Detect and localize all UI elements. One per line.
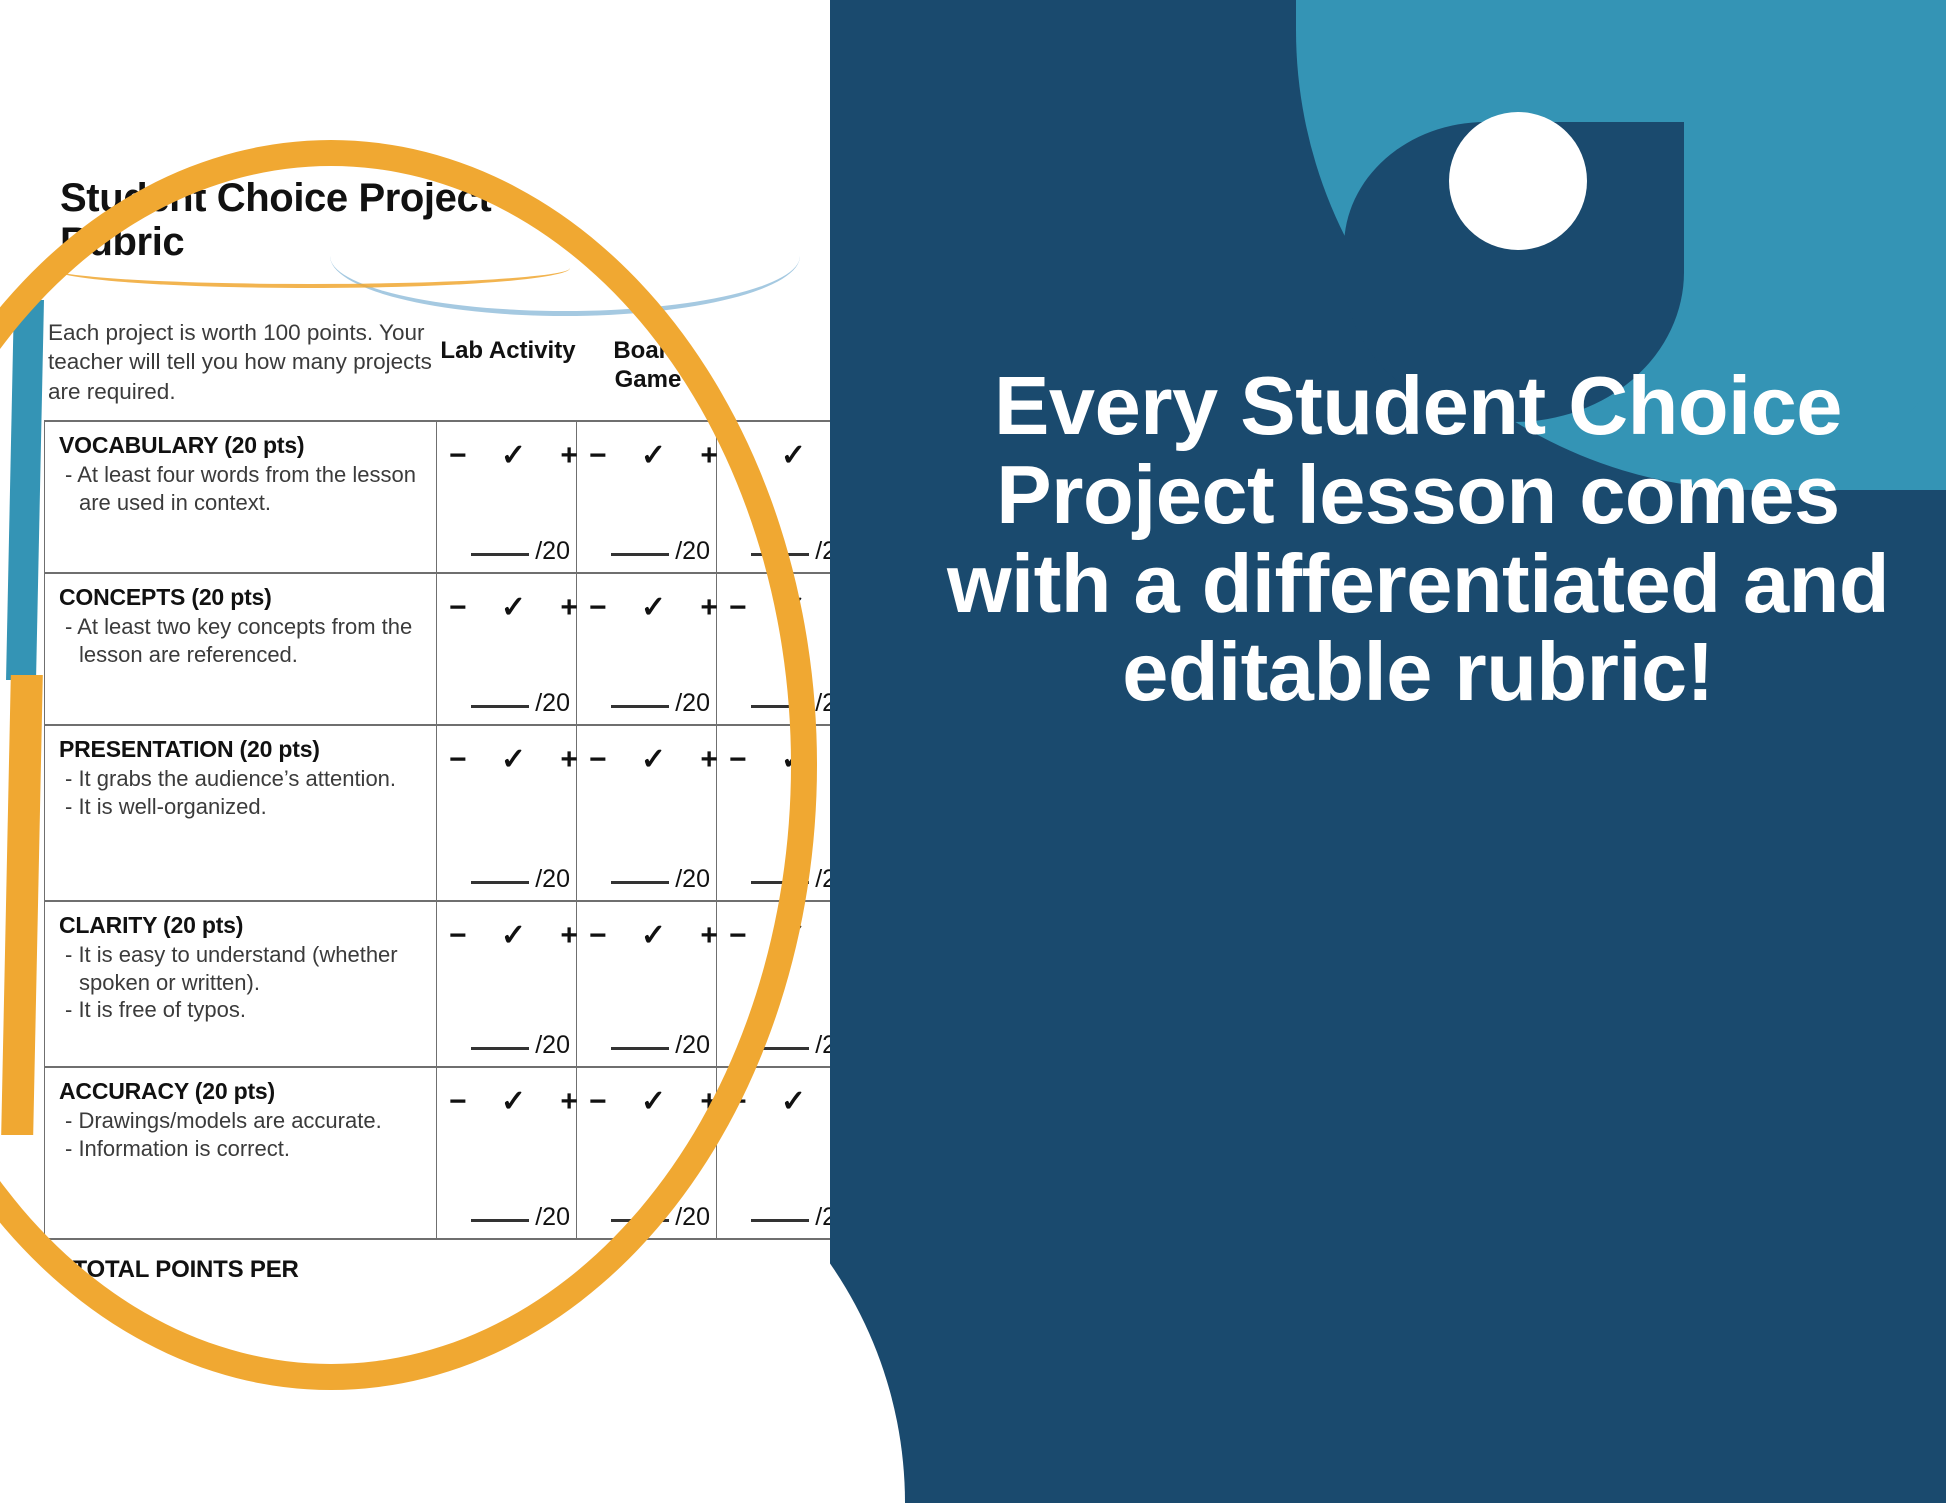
criterion-cell-presentation: PRESENTATION (20 pts) - It grabs the aud…: [45, 725, 437, 901]
score-blank[interactable]: [471, 1219, 529, 1222]
mark-scale[interactable]: − ✓ +: [437, 1076, 576, 1119]
score-blank[interactable]: [471, 705, 529, 708]
criterion-title: CLARITY (20 pts): [59, 912, 426, 939]
list-item: - It grabs the audience’s attention.: [59, 765, 426, 793]
mark-scale[interactable]: − ✓ +: [717, 582, 830, 625]
score-line[interactable]: /20: [611, 537, 710, 566]
score-blank[interactable]: [611, 1219, 669, 1222]
criterion-cell-clarity: CLARITY (20 pts) - It is easy to underst…: [45, 901, 437, 1067]
mark-scale[interactable]: − ✓ +: [437, 430, 576, 473]
score-blank[interactable]: [751, 705, 809, 708]
score-line[interactable]: /20: [471, 865, 570, 894]
mark-scale[interactable]: − ✓ +: [717, 910, 830, 953]
score-line[interactable]: /20: [751, 537, 830, 566]
mark-scale[interactable]: − ✓ +: [717, 734, 830, 777]
criterion-title: PRESENTATION (20 pts): [59, 736, 426, 763]
score-suffix: /20: [675, 865, 710, 893]
criterion-bullets: - Drawings/models are accurate. - Inform…: [59, 1107, 426, 1162]
score-cell-third[interactable]: − ✓ + /20: [717, 1067, 831, 1239]
list-item: - It is well-organized.: [59, 793, 426, 821]
score-cell-board-game[interactable]: − ✓ + /20: [577, 725, 717, 901]
total-points-label: TOTAL POINTS PER: [59, 1250, 427, 1284]
list-item: - Drawings/models are accurate.: [59, 1107, 426, 1135]
mark-scale[interactable]: − ✓ +: [437, 734, 576, 777]
table-row: CONCEPTS (20 pts) - At least two key con…: [45, 573, 831, 725]
score-line[interactable]: /20: [471, 689, 570, 718]
table-row: VOCABULARY (20 pts) - At least four word…: [45, 421, 831, 573]
criterion-cell-concepts: CONCEPTS (20 pts) - At least two key con…: [45, 573, 437, 725]
score-suffix: /20: [535, 537, 570, 565]
list-item: - It is easy to understand (whether spok…: [59, 941, 426, 996]
score-cell-third[interactable]: − ✓ + /20: [717, 573, 831, 725]
score-suffix: /20: [675, 1203, 710, 1231]
mark-scale[interactable]: − ✓ +: [577, 1076, 716, 1119]
criterion-cell-vocabulary: VOCABULARY (20 pts) - At least four word…: [45, 421, 437, 573]
rubric-intro-text: Each project is worth 100 points. Your t…: [48, 318, 438, 406]
score-cell-lab-activity[interactable]: − ✓ + /20: [437, 421, 577, 573]
total-label-cell: TOTAL POINTS PER: [45, 1239, 437, 1296]
document-title: Student Choice Project Rubric: [60, 176, 620, 264]
score-cell-lab-activity[interactable]: − ✓ + /20: [437, 573, 577, 725]
total-cell-third[interactable]: [717, 1239, 831, 1296]
criterion-bullets: - It grabs the audience’s attention. - I…: [59, 765, 426, 820]
score-suffix: /20: [815, 1031, 830, 1059]
criterion-bullets: - At least two key concepts from the les…: [59, 613, 426, 668]
score-blank[interactable]: [751, 553, 809, 556]
rubric-document: Student Choice Project Rubric Each proje…: [0, 0, 830, 1503]
score-line[interactable]: /20: [471, 537, 570, 566]
table-row: PRESENTATION (20 pts) - It grabs the aud…: [45, 725, 831, 901]
promo-graphic: Student Choice Project Rubric Each proje…: [0, 0, 1946, 1503]
score-suffix: /20: [815, 1203, 830, 1231]
total-cell-lab-activity[interactable]: [437, 1239, 577, 1296]
mark-scale[interactable]: − ✓ +: [577, 734, 716, 777]
score-blank[interactable]: [471, 1047, 529, 1050]
score-suffix: /20: [675, 689, 710, 717]
criterion-cell-accuracy: ACCURACY (20 pts) - Drawings/models are …: [45, 1067, 437, 1239]
score-suffix: /20: [815, 689, 830, 717]
rubric-table: VOCABULARY (20 pts) - At least four word…: [44, 420, 830, 1296]
mark-scale[interactable]: − ✓ +: [717, 430, 830, 473]
score-line[interactable]: /20: [751, 689, 830, 718]
criterion-title: ACCURACY (20 pts): [59, 1078, 426, 1105]
score-blank[interactable]: [611, 705, 669, 708]
score-blank[interactable]: [611, 553, 669, 556]
score-blank[interactable]: [611, 881, 669, 884]
mark-scale[interactable]: − ✓ +: [437, 582, 576, 625]
score-blank[interactable]: [471, 553, 529, 556]
score-blank[interactable]: [471, 881, 529, 884]
score-cell-board-game[interactable]: − ✓ + /20: [577, 573, 717, 725]
mark-scale[interactable]: − ✓ +: [577, 430, 716, 473]
score-blank[interactable]: [611, 1047, 669, 1050]
total-cell-board-game[interactable]: [577, 1239, 717, 1296]
score-line[interactable]: /20: [751, 1203, 830, 1232]
score-cell-lab-activity[interactable]: − ✓ + /20: [437, 725, 577, 901]
score-suffix: /20: [675, 537, 710, 565]
score-cell-board-game[interactable]: − ✓ + /20: [577, 421, 717, 573]
score-suffix: /20: [535, 689, 570, 717]
score-cell-lab-activity[interactable]: − ✓ + /20: [437, 901, 577, 1067]
promo-headline: Every Student Choice Project lesson come…: [940, 362, 1896, 717]
criterion-title: VOCABULARY (20 pts): [59, 432, 426, 459]
score-line[interactable]: /20: [611, 1031, 710, 1060]
list-item: - At least two key concepts from the les…: [59, 613, 426, 668]
score-line[interactable]: /20: [751, 1031, 830, 1060]
criterion-bullets: - At least four words from the lesson ar…: [59, 461, 426, 516]
score-cell-lab-activity[interactable]: − ✓ + /20: [437, 1067, 577, 1239]
mark-scale[interactable]: − ✓ +: [577, 910, 716, 953]
table-row: CLARITY (20 pts) - It is easy to underst…: [45, 901, 831, 1067]
score-cell-third[interactable]: − ✓ + /20: [717, 901, 831, 1067]
rubric-header-row: Each project is worth 100 points. Your t…: [48, 318, 788, 406]
teal-side-strip: [6, 300, 44, 680]
list-item: - At least four words from the lesson ar…: [59, 461, 426, 516]
score-line[interactable]: /20: [611, 1203, 710, 1232]
column-header-board-game: Board Game: [578, 318, 718, 395]
score-suffix: /20: [535, 1203, 570, 1231]
score-cell-third[interactable]: − ✓ + /20: [717, 725, 831, 901]
table-row: ACCURACY (20 pts) - Drawings/models are …: [45, 1067, 831, 1239]
list-item: - It is free of typos.: [59, 996, 426, 1024]
score-suffix: /20: [535, 1031, 570, 1059]
score-suffix: /20: [815, 865, 830, 893]
score-suffix: /20: [675, 1031, 710, 1059]
score-blank[interactable]: [751, 1047, 809, 1050]
mark-scale[interactable]: − ✓ +: [437, 910, 576, 953]
score-cell-third[interactable]: − ✓ + /20: [717, 421, 831, 573]
mark-scale[interactable]: − ✓ +: [717, 1076, 830, 1119]
score-cell-board-game[interactable]: − ✓ + /20: [577, 901, 717, 1067]
list-item: - Information is correct.: [59, 1135, 426, 1163]
white-circle-decoration: [1449, 112, 1587, 250]
score-blank[interactable]: [751, 881, 809, 884]
score-blank[interactable]: [751, 1219, 809, 1222]
criterion-title: CONCEPTS (20 pts): [59, 584, 426, 611]
score-line[interactable]: /20: [611, 689, 710, 718]
score-line[interactable]: /20: [471, 1031, 570, 1060]
criterion-bullets: - It is easy to understand (whether spok…: [59, 941, 426, 1024]
score-line[interactable]: /20: [751, 865, 830, 894]
score-suffix: /20: [815, 537, 830, 565]
score-line[interactable]: /20: [611, 865, 710, 894]
score-line[interactable]: /20: [471, 1203, 570, 1232]
column-header-lab-activity: Lab Activity: [438, 318, 578, 365]
score-cell-board-game[interactable]: − ✓ + /20: [577, 1067, 717, 1239]
table-row-total: TOTAL POINTS PER: [45, 1239, 831, 1296]
mark-scale[interactable]: − ✓ +: [577, 582, 716, 625]
orange-side-strip: [1, 675, 43, 1135]
score-suffix: /20: [535, 865, 570, 893]
